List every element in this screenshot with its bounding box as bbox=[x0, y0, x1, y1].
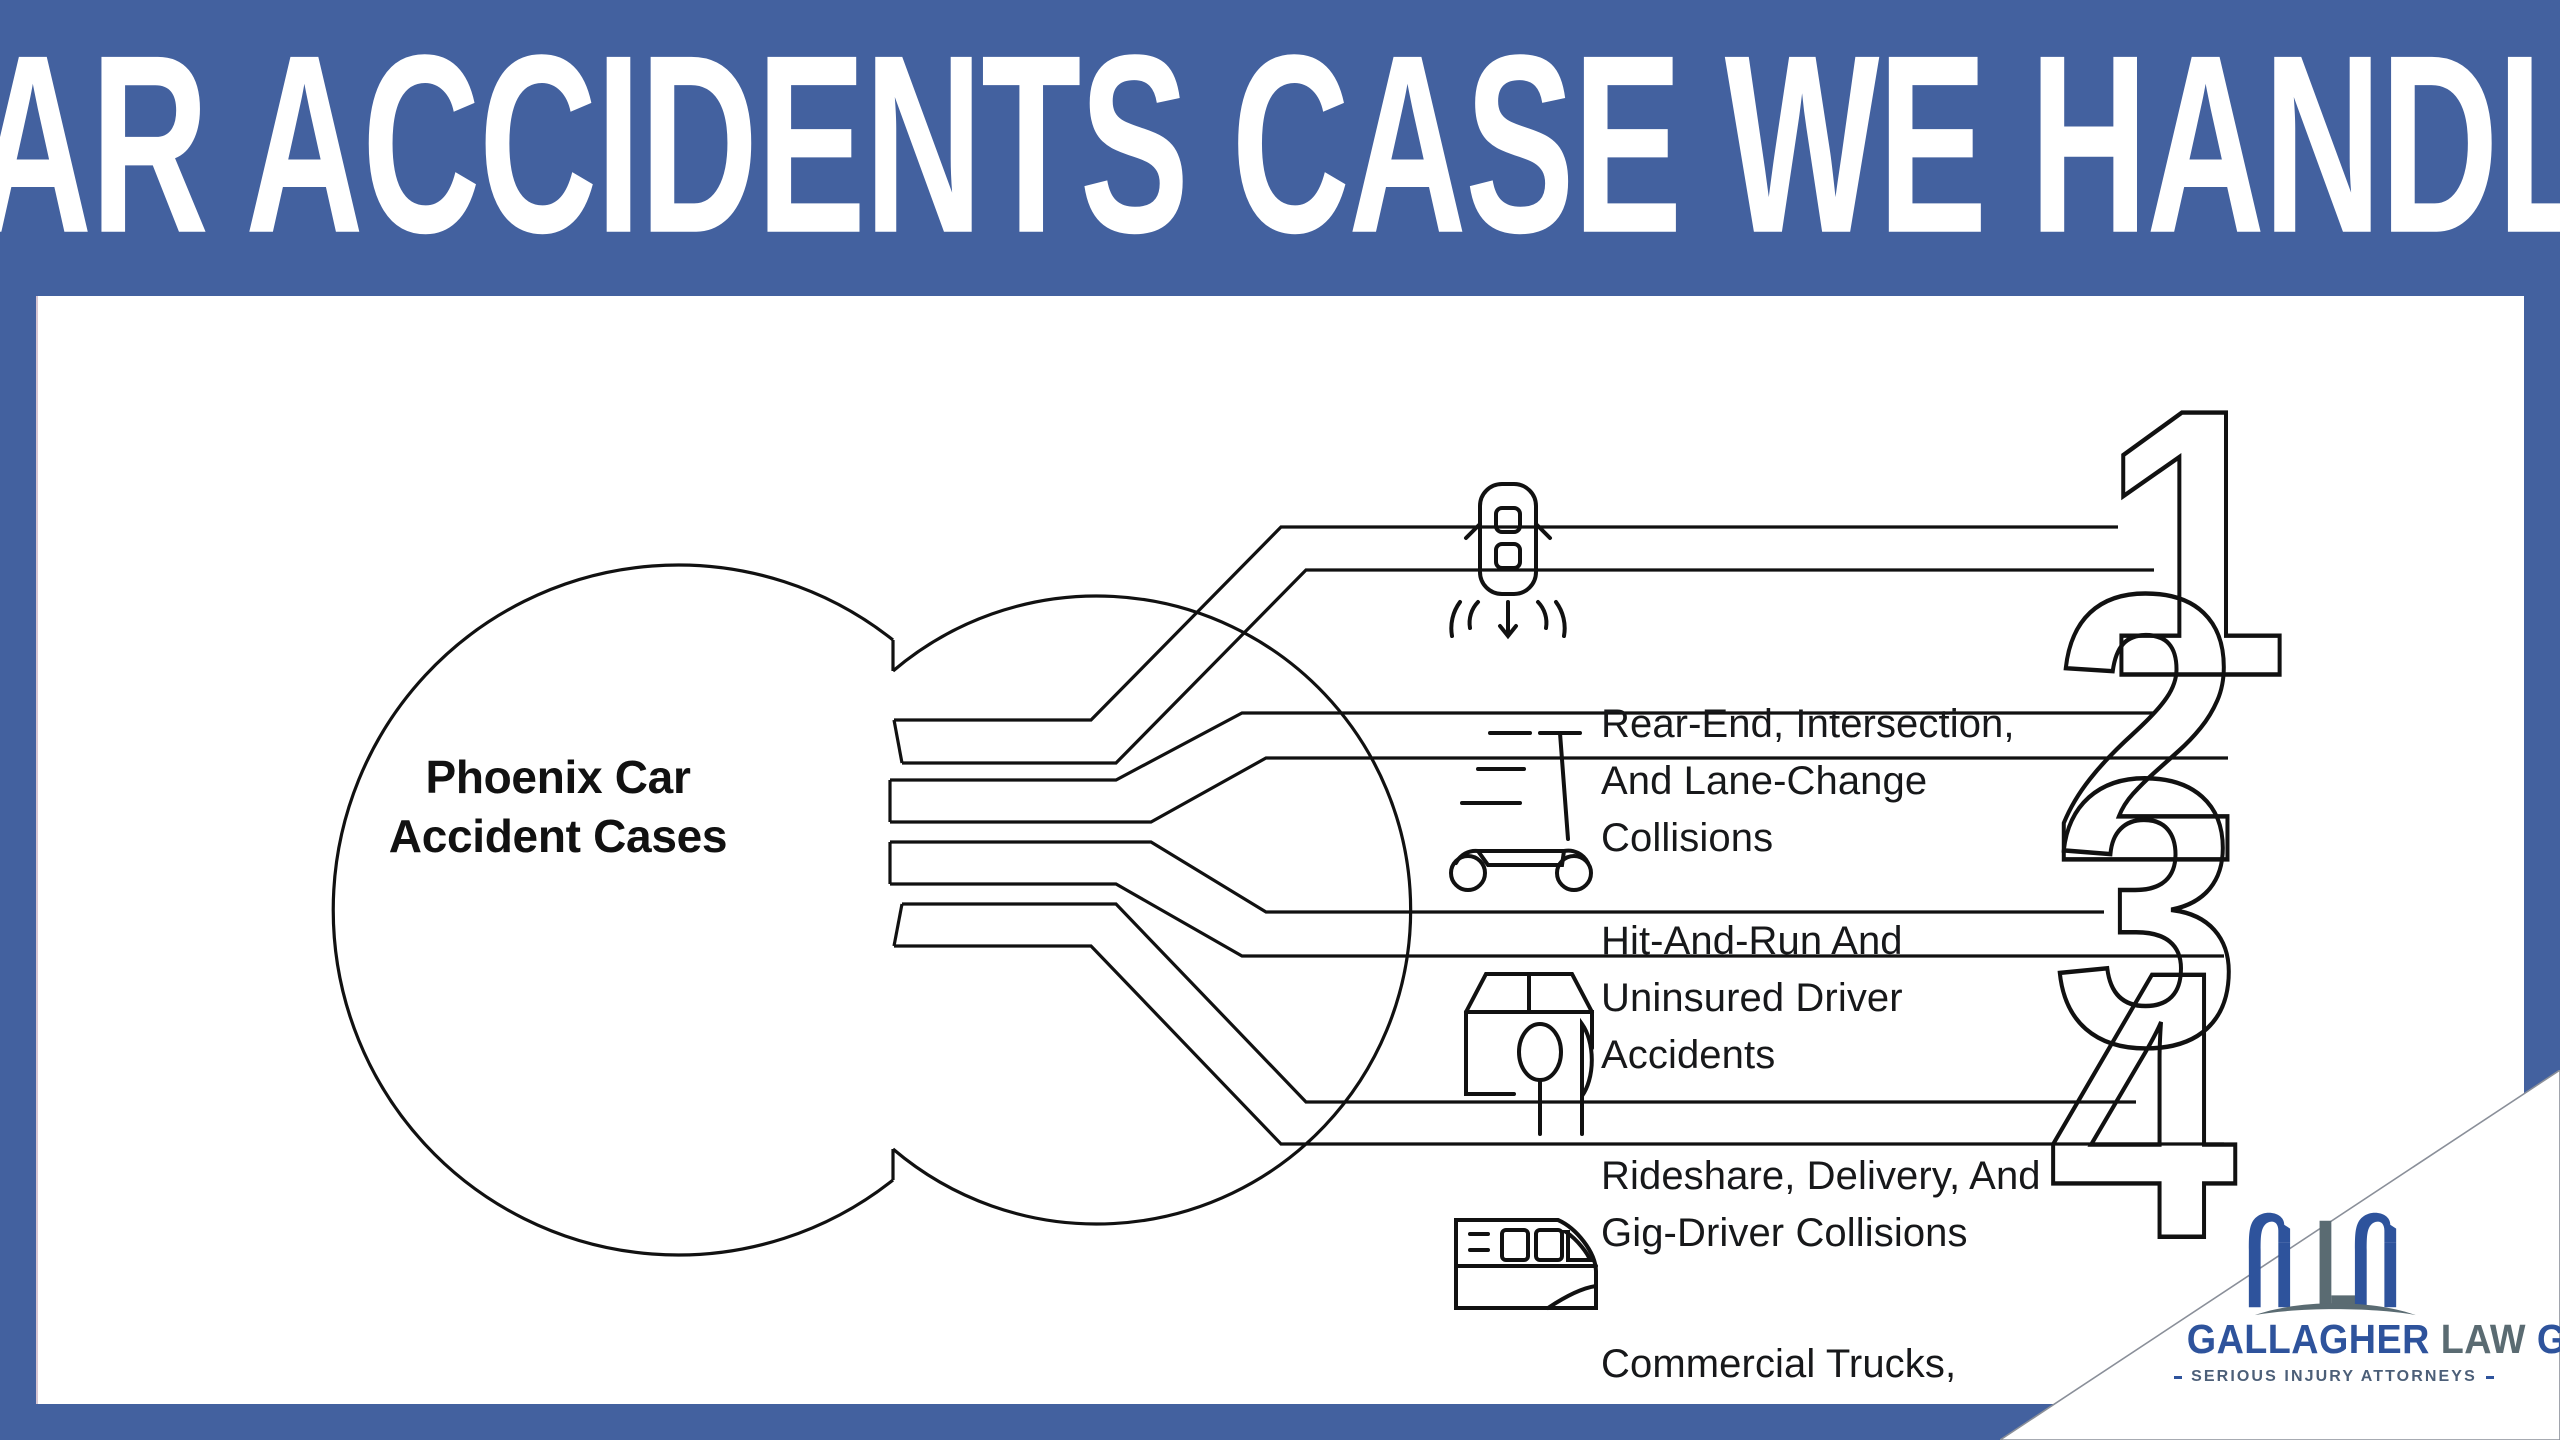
page-title: CAR ACCIDENTS CASE WE HANDLE bbox=[0, 28, 2560, 262]
row-label-3-line-1: Rideshare, Delivery, And bbox=[1601, 1148, 2161, 1205]
row-label-2-line-1: Hit-And-Run And bbox=[1601, 913, 2161, 970]
row-label-4-line-2: Buses, And Government bbox=[1601, 1393, 2161, 1404]
brand-logo: GALLAGHER LAW GROUP SERIOUS INJURY ATTOR… bbox=[2174, 1209, 2494, 1386]
row-label-1-line-1: Rear-End, Intersection, bbox=[1601, 696, 2161, 753]
bus-van-icon bbox=[1456, 1220, 1596, 1308]
glg-monogram-icon bbox=[2241, 1209, 2428, 1319]
row-label-1: Rear-End, Intersection, And Lane-Change … bbox=[1601, 696, 2161, 866]
row-label-2: Hit-And-Run And Uninsured Driver Acciden… bbox=[1601, 913, 2161, 1083]
row-label-1-line-3: Collisions bbox=[1601, 810, 2161, 867]
logo-tagline: SERIOUS INJURY ATTORNEYS bbox=[2191, 1368, 2477, 1386]
row-label-2-line-2: Uninsured Driver bbox=[1601, 970, 2161, 1027]
tagline-rule-left bbox=[2174, 1376, 2182, 1379]
row-label-3-line-2: Gig-Driver Collisions bbox=[1601, 1205, 2161, 1262]
car-rear-sensor-icon bbox=[1451, 484, 1564, 636]
logo-word-law: LAW bbox=[2441, 1316, 2537, 1362]
center-ring bbox=[333, 565, 1410, 1255]
logo-wordmark: GALLAGHER LAW GROUP bbox=[2187, 1318, 2481, 1361]
content-panel: 1 2 3 4 bbox=[36, 296, 2524, 1404]
tagline-rule-right bbox=[2486, 1376, 2494, 1379]
logo-tagline-row: SERIOUS INJURY ATTORNEYS bbox=[2174, 1368, 2494, 1386]
row-label-4: Commercial Trucks, Buses, And Government… bbox=[1601, 1336, 2161, 1404]
row-label-2-line-3: Accidents bbox=[1601, 1027, 2161, 1084]
logo-word-group: GROUP bbox=[2537, 1316, 2560, 1362]
logo-word-gallagher: GALLAGHER bbox=[2187, 1316, 2441, 1362]
row-label-3: Rideshare, Delivery, And Gig-Driver Coll… bbox=[1601, 1148, 2161, 1262]
header-banner: CAR ACCIDENTS CASE WE HANDLE bbox=[0, 0, 2560, 290]
row-label-4-line-1: Commercial Trucks, bbox=[1601, 1336, 2161, 1393]
row-label-1-line-2: And Lane-Change bbox=[1601, 753, 2161, 810]
delivery-box-utensils-icon bbox=[1466, 974, 1592, 1134]
center-node-line-2: Accident Cases bbox=[338, 807, 778, 866]
center-node-line-1: Phoenix Car bbox=[338, 748, 778, 807]
center-node-label: Phoenix Car Accident Cases bbox=[338, 748, 778, 866]
